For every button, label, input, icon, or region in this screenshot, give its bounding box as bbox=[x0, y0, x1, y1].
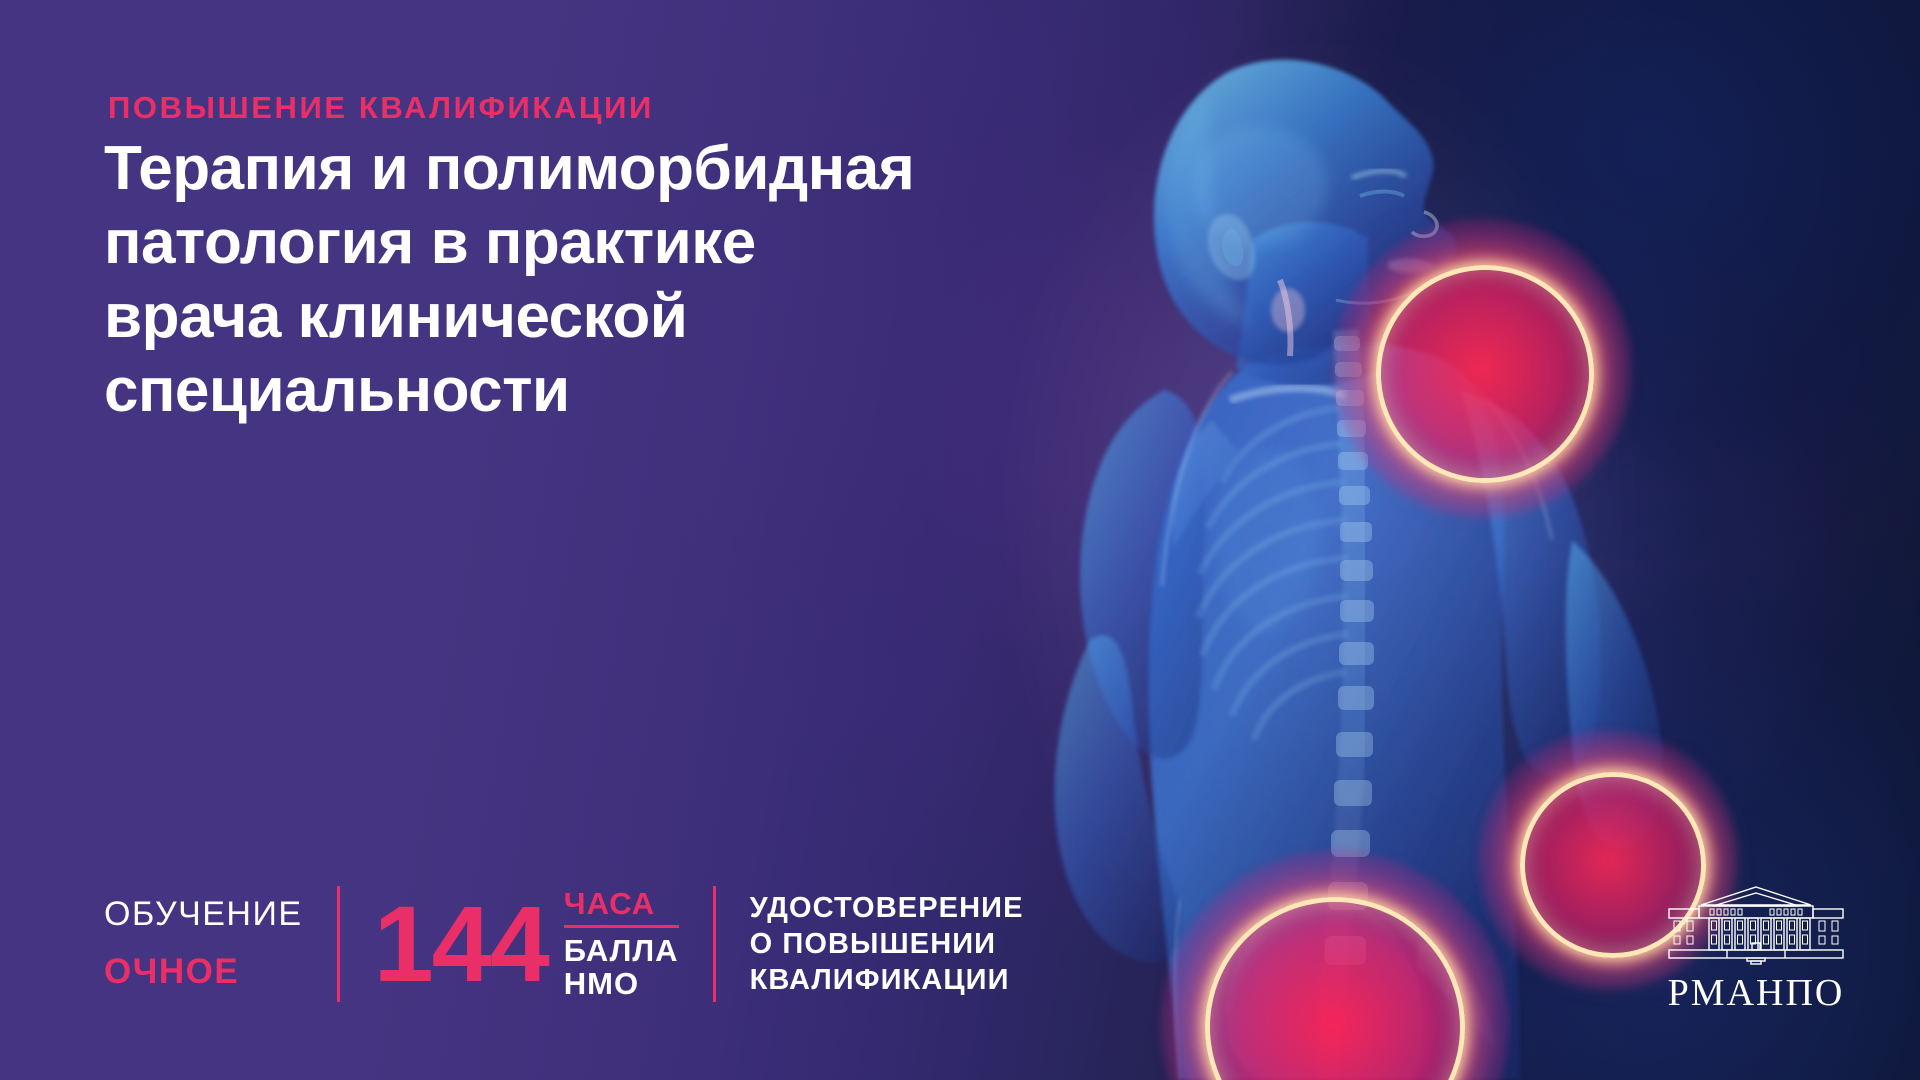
hours-units: ЧАСА БАЛЛА НМО bbox=[564, 888, 679, 1001]
promo-banner: ПОВЫШЕНИЕ КВАЛИФИКАЦИИ Терапия и полимор… bbox=[0, 0, 1920, 1080]
credits-unit-label-2: НМО bbox=[564, 967, 679, 1000]
headline-line-2: патология в практике bbox=[104, 206, 1104, 280]
certificate-line-2: О ПОВЫШЕНИИ bbox=[750, 926, 1024, 962]
logo-text: РМАНПО bbox=[1650, 974, 1862, 1012]
certificate-line-1: УДОСТОВЕРЕНИЕ bbox=[750, 890, 1024, 926]
page-title: Терапия и полиморбидная патология в прак… bbox=[104, 132, 1104, 428]
headline-line-3: врача клинической bbox=[104, 280, 1104, 354]
hours-credits-block: 144 ЧАСА БАЛЛА НМО bbox=[374, 886, 679, 1002]
hours-unit-label: ЧАСА bbox=[564, 888, 679, 920]
certificate-line-3: КВАЛИФИКАЦИИ bbox=[750, 962, 1024, 998]
hours-divider-rule bbox=[564, 925, 679, 928]
credits-unit-label-1: БАЛЛА bbox=[564, 934, 679, 967]
academy-building-icon bbox=[1665, 883, 1847, 965]
certificate-block: УДОСТОВЕРЕНИЕ О ПОВЫШЕНИИ КВАЛИФИКАЦИИ bbox=[750, 890, 1024, 998]
study-format-label: ОБУЧЕНИЕ bbox=[104, 897, 303, 933]
divider-2 bbox=[713, 886, 716, 1002]
eyebrow-label: ПОВЫШЕНИЕ КВАЛИФИКАЦИИ bbox=[108, 90, 654, 126]
course-info-bar: ОБУЧЕНИЕ ОЧНОЕ 144 ЧАСА БАЛЛА НМО УДОСТО… bbox=[104, 882, 1024, 1006]
study-format-block: ОБУЧЕНИЕ ОЧНОЕ bbox=[104, 886, 303, 1002]
hours-number: 144 bbox=[374, 896, 548, 991]
divider-1 bbox=[337, 886, 340, 1002]
headline-line-1: Терапия и полиморбидная bbox=[104, 132, 1104, 206]
study-format-value: ОЧНОЕ bbox=[104, 954, 303, 991]
rmanpo-logo: РМАНПО bbox=[1650, 883, 1862, 1012]
headline-line-4: специальности bbox=[104, 354, 1104, 428]
